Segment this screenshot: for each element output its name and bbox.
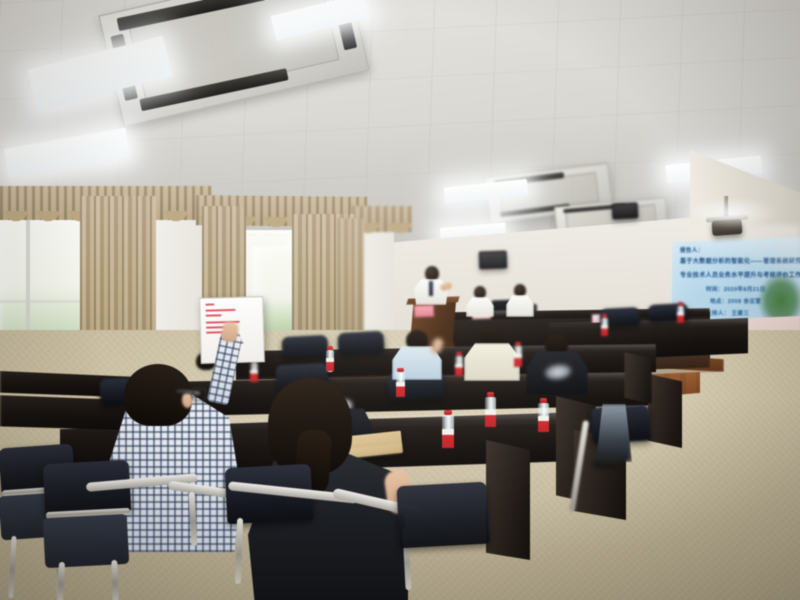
poster-line-2 [206, 314, 222, 316]
wall-speaker-right [612, 202, 639, 219]
chair-back-row-1[interactable] [281, 335, 328, 359]
poster-line-1 [205, 309, 235, 312]
podium-sign [414, 305, 434, 318]
desk-end-panel-2 [648, 374, 682, 448]
water-bottle[interactable] [601, 314, 608, 336]
water-bottle[interactable] [485, 392, 496, 427]
screen-line-3: 时间：2020年8月21日 [706, 285, 766, 293]
water-bottle[interactable] [396, 368, 405, 397]
screen-plant-graphic [758, 273, 800, 319]
water-bottle[interactable] [326, 346, 334, 372]
presenter-head [425, 266, 439, 281]
wall-speaker-left [479, 251, 508, 270]
glasses-lens [191, 387, 206, 401]
curtain-panel-4 [338, 218, 364, 348]
desk-end-panel-3 [486, 440, 530, 560]
presenter-tie [429, 281, 433, 296]
projector-lens-glow [690, 198, 776, 228]
attendee-shoe [592, 456, 618, 468]
screen-line-5: 主持人： 王建三 [706, 309, 749, 317]
chair-back-row-2[interactable] [337, 331, 384, 355]
water-bottle[interactable] [677, 302, 684, 323]
water-bottle[interactable] [514, 342, 522, 367]
conference-chair-front-5[interactable] [396, 482, 489, 549]
screen-line-4: 地点：2008 会议室 [710, 297, 761, 305]
water-bottle[interactable] [538, 398, 549, 432]
desk-end-panel-5 [624, 352, 652, 404]
water-bottle[interactable] [442, 410, 454, 448]
attendee-cream-shirt-body [464, 343, 520, 381]
water-bottle[interactable] [455, 352, 463, 376]
projector-beam [690, 225, 800, 269]
poster-line-0 [205, 303, 214, 305]
conference-room-photo: 报告人： 基于大数据分析的智能化——管理系统研究与应用 专业技术人员业务水平提升… [0, 0, 800, 600]
